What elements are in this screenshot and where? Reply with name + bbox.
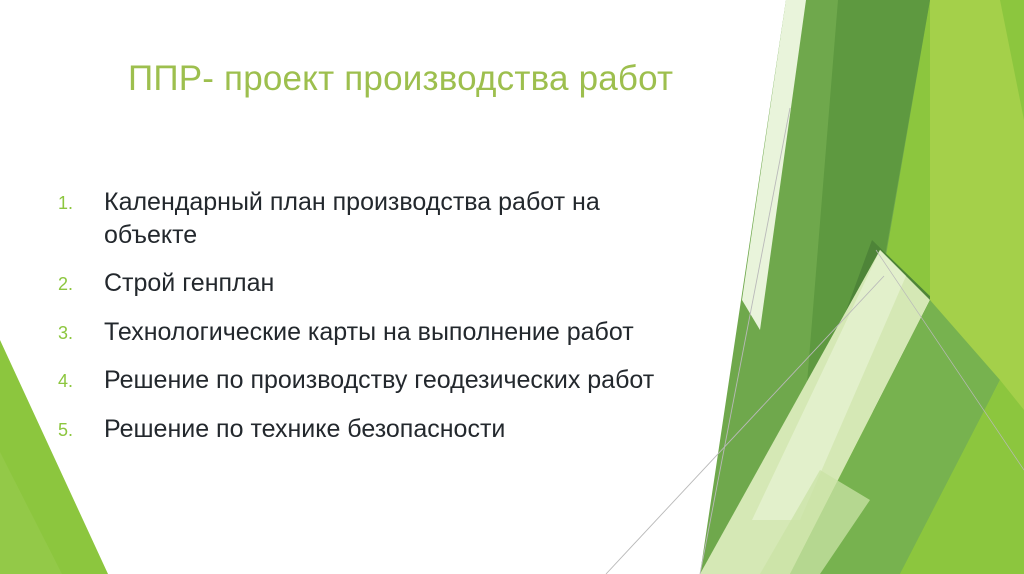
title-block: ППР- проект производства работ [128, 50, 728, 108]
decor-shape-green-deep [828, 240, 934, 420]
list-item-number: 4. [58, 364, 104, 393]
decor-shape-green-dark [800, 0, 930, 470]
decor-shape-left-wedge-light [0, 452, 62, 574]
presentation-slide: ППР- проект производства работ 1. Календ… [0, 0, 1024, 574]
list-item: 3. Технологические карты на выполнение р… [58, 316, 758, 349]
list-item-number: 3. [58, 316, 104, 345]
decor-hairline-3 [876, 250, 1024, 470]
decor-shape-pale-overlay [752, 250, 906, 520]
list-item-text: Строй генплан [104, 267, 704, 300]
list-item: 1. Календарный план производства работ н… [58, 186, 758, 251]
list-item-text: Решение по технике безопасности [104, 413, 704, 446]
content-list: 1. Календарный план производства работ н… [58, 186, 758, 445]
decor-shape-lime-lower-right [900, 380, 1024, 574]
decor-shape-lime-light [930, 0, 1024, 440]
list-item: 2. Строй генплан [58, 267, 758, 300]
decor-shape-right-base [742, 0, 1024, 574]
list-item: 4. Решение по производству геодезических… [58, 364, 758, 397]
list-item-text: Решение по производству геодезических ра… [104, 364, 704, 397]
list-item: 5. Решение по технике безопасности [58, 413, 758, 446]
decor-shape-green-lower [790, 300, 1000, 574]
decor-shape-highlight [760, 470, 870, 574]
list-item-number: 1. [58, 186, 104, 215]
list-item-number: 2. [58, 267, 104, 296]
list-item-text: Календарный план производства работ на о… [104, 186, 694, 251]
list-item-number: 5. [58, 413, 104, 442]
slide-title: ППР- проект производства работ [128, 59, 673, 98]
list-item-text: Технологические карты на выполнение рабо… [104, 316, 704, 349]
